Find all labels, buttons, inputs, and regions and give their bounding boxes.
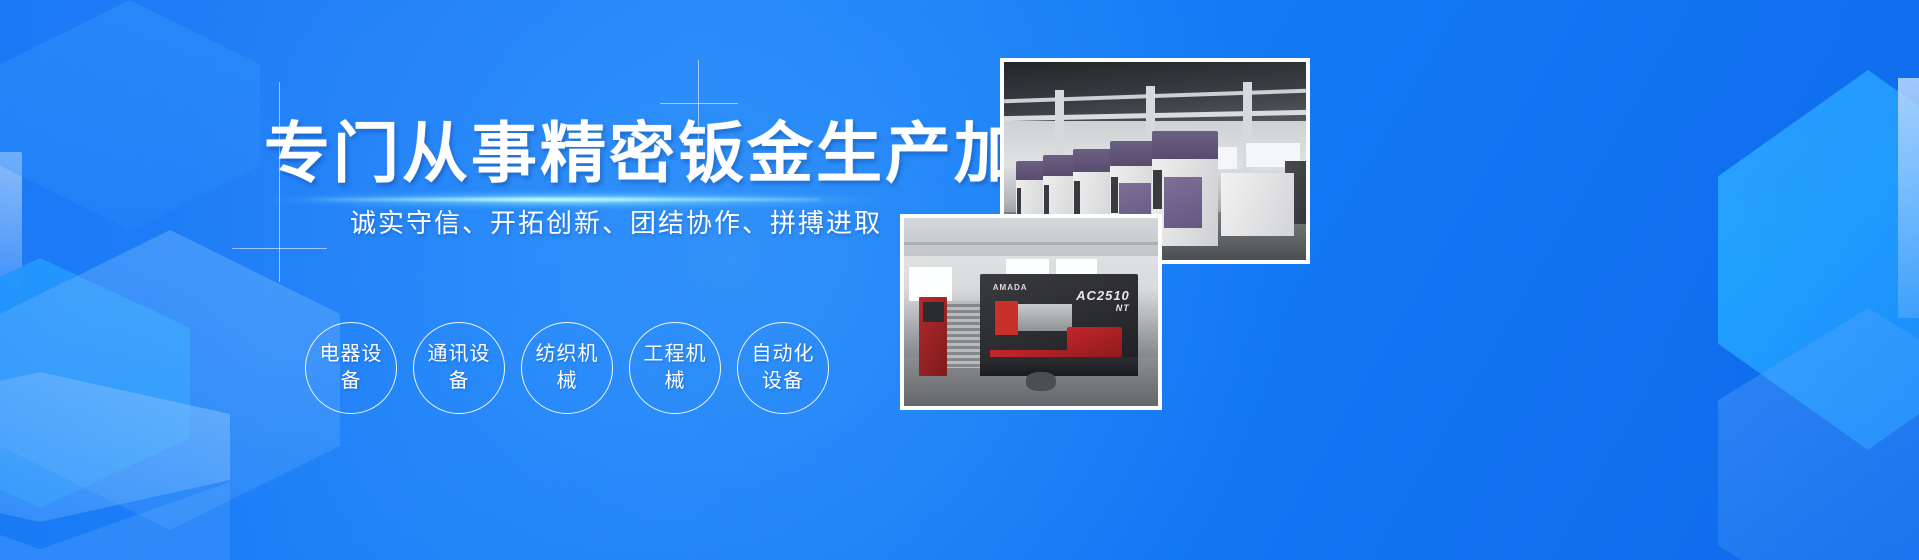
badge-communication-equipment[interactable]: 通讯设备 [413, 322, 505, 414]
badge-engineering-machinery[interactable]: 工程机械 [629, 322, 721, 414]
headline-glow-core [300, 198, 820, 201]
machine-model-text: AC2510 [1076, 288, 1130, 303]
badge-label: 自动化设备 [750, 341, 816, 395]
badge-textile-machinery[interactable]: 纺织机械 [521, 322, 613, 414]
hero-banner: 专门从事精密钣金生产加工 诚实守信、开拓创新、团结协作、拼搏进取 电器设备 通讯… [0, 0, 1919, 560]
badge-label: 通讯设备 [426, 341, 492, 395]
banner-subtitle: 诚实守信、开拓创新、团结协作、拼搏进取 [350, 206, 882, 240]
badge-electrical-equipment[interactable]: 电器设备 [305, 322, 397, 414]
badge-label: 纺织机械 [534, 341, 600, 395]
decor-cube-right [1718, 70, 1919, 450]
decor-cube-right-lower [1718, 308, 1919, 560]
machine-model-suffix-text: NT [1076, 302, 1130, 315]
decor-slab-right [1898, 78, 1919, 318]
machine-brand-text: AMADA [993, 283, 1028, 292]
badge-label: 工程机械 [642, 341, 708, 395]
category-badge-list: 电器设备 通讯设备 纺织机械 工程机械 自动化设备 [305, 322, 829, 414]
photo-bottom-content: AMADA AC2510 NT [904, 218, 1158, 406]
banner-headline: 专门从事精密钣金生产加工 [264, 116, 1092, 190]
badge-label: 电器设备 [318, 341, 384, 395]
photo-amada-turret-punch-press: AMADA AC2510 NT [900, 214, 1162, 410]
badge-automation-equipment[interactable]: 自动化设备 [737, 322, 829, 414]
